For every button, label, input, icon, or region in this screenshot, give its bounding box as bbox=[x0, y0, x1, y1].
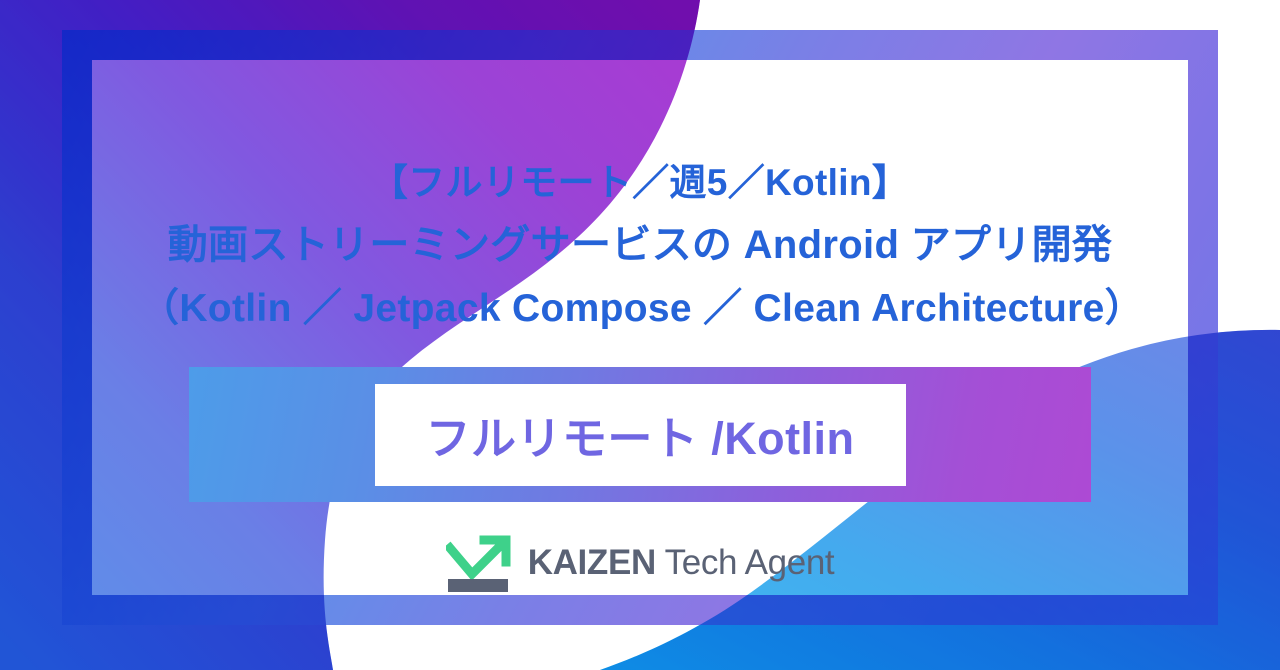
logo-wordmark: KAIZEN Tech Agent bbox=[528, 543, 835, 583]
banner-content: 【フルリモート／週5／Kotlin】 動画ストリーミングサービスの Androi… bbox=[0, 0, 1280, 670]
growth-arrow-icon bbox=[446, 532, 514, 594]
highlight-badge-bar: フルリモート /Kotlin bbox=[189, 367, 1091, 502]
headline-line-1: 【フルリモート／週5／Kotlin】 bbox=[140, 152, 1140, 214]
badge-inner-box: フルリモート /Kotlin bbox=[375, 384, 906, 486]
brand-logo: KAIZEN Tech Agent bbox=[446, 532, 835, 594]
logo-brand-name: KAIZEN bbox=[528, 543, 656, 582]
logo-brand-suffix: Tech Agent bbox=[656, 543, 834, 582]
status-badge: フルリモート /Kotlin bbox=[426, 402, 855, 467]
headline-line-3: （Kotlin ／ Jetpack Compose ／ Clean Archit… bbox=[140, 277, 1140, 340]
headline-line-2: 動画ストリーミングサービスの Android アプリ開発 bbox=[140, 214, 1140, 277]
job-banner: 【フルリモート／週5／Kotlin】 動画ストリーミングサービスの Androi… bbox=[0, 0, 1280, 670]
page-title: 【フルリモート／週5／Kotlin】 動画ストリーミングサービスの Androi… bbox=[140, 0, 1140, 340]
